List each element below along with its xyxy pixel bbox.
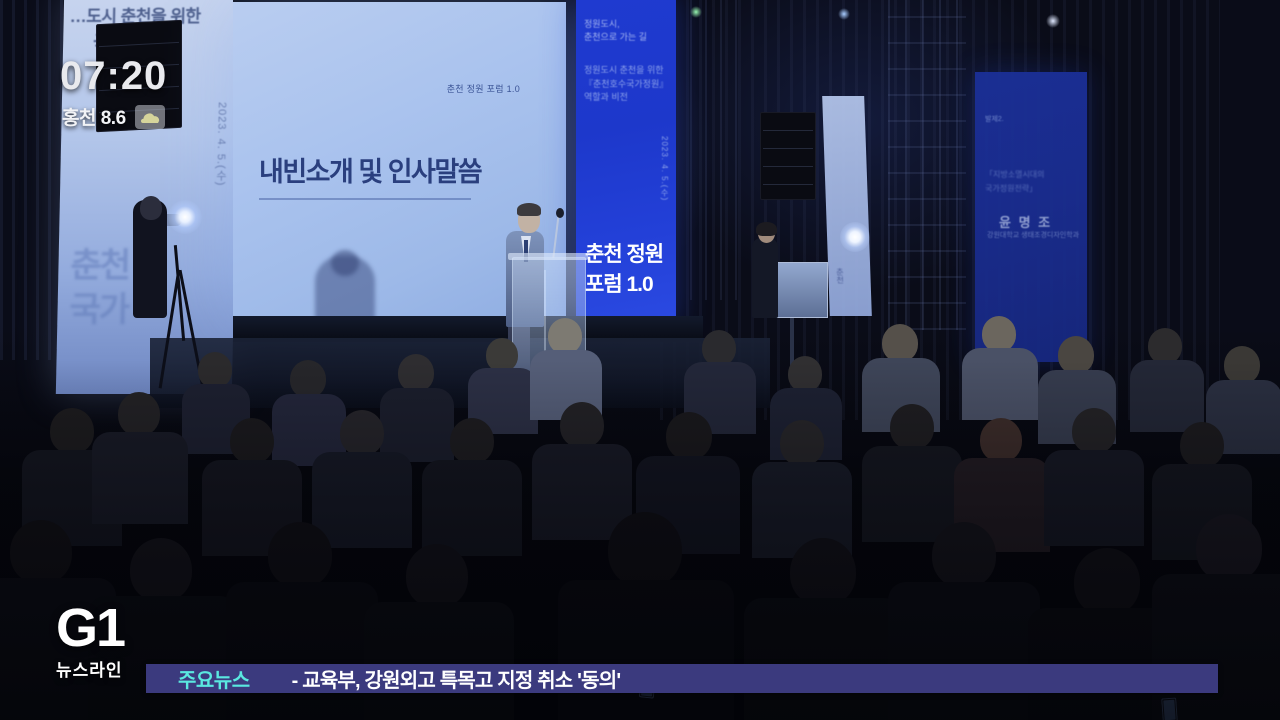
slide-title: 내빈소개 및 인사말씀 — [259, 150, 481, 189]
banner-center-date: 2023. 4. 5.(수) — [659, 136, 670, 201]
banner-right-speaker-name: 윤 명 조 — [999, 212, 1052, 231]
podium-top — [508, 253, 588, 260]
stage-flat-right: 춘천 — [822, 96, 872, 316]
banner-left-date: 2023. 4. 5.(수) — [212, 102, 230, 186]
stage-truss-right — [888, 0, 966, 330]
slide-corner-label: 춘천 정원 포럼 1.0 — [447, 82, 520, 95]
clock-time: 07:20 — [60, 56, 167, 96]
banner-center-big-line1: 춘천 정원 — [585, 238, 663, 268]
camera-flash-icon — [168, 200, 202, 234]
ticker-label: 주요뉴스 — [178, 664, 250, 693]
clock-weather-overlay: 07:20 홍천 8.6 — [60, 56, 167, 130]
stage-lamp-green-icon — [690, 6, 702, 18]
banner-center-small2: 정원도시 춘천을 위한 『춘천호수국가정원』 역할과 비전 — [584, 64, 672, 105]
banner-center-big-line2: 포럼 1.0 — [585, 268, 653, 298]
ticker-headline: - 교육부, 강원외고 특목고 지정 취소 '동의' — [292, 664, 621, 693]
stage-flat-text: 춘천 — [834, 268, 846, 284]
stage-banner-center: 정원도시, 춘천으로 가는 길 정원도시 춘천을 위한 『춘천호수국가정원』 역… — [576, 0, 676, 326]
cloud-icon — [135, 105, 165, 129]
speaker-hair — [517, 203, 541, 216]
stage-spotlight — [840, 222, 870, 252]
broadcast-screen: …도시 춘천을 위한 국가정원』 2023. 4. 5.(수) 춘천 국가 춘천… — [0, 0, 1280, 720]
banner-center-small1: 정원도시, 춘천으로 가는 길 — [584, 18, 647, 44]
banner-right-small2: 「지방소멸시대의 국가정원전략」 — [985, 168, 1077, 195]
photographer-head — [140, 196, 162, 220]
banner-right-small1: 발제2. — [985, 114, 1004, 124]
stage-lamp-blue-icon — [838, 8, 850, 20]
projected-shadow-head — [331, 250, 359, 276]
stage-lamp-white-icon — [1046, 14, 1060, 28]
line-array-speaker-right — [760, 112, 816, 200]
banner-left-big1: 춘천 — [70, 238, 130, 287]
news-ticker: 주요뉴스 - 교육부, 강원외고 특목고 지정 취소 '동의' — [146, 664, 1218, 693]
slide-underline — [259, 198, 471, 200]
microphone-icon — [556, 208, 564, 218]
channel-logo: G1 뉴스라인 — [56, 604, 124, 681]
program-name: 뉴스라인 — [56, 656, 124, 681]
stage-truss-center — [690, 0, 750, 300]
channel-logo-mark: G1 — [56, 604, 124, 654]
weather-location-temperature: 홍천 8.6 — [62, 103, 126, 130]
video-scene: …도시 춘천을 위한 국가정원』 2023. 4. 5.(수) 춘천 국가 춘천… — [0, 0, 1280, 720]
banner-right-speaker-org: 강원대학교 생태조경디자인학과 — [987, 230, 1079, 240]
staff-hair — [756, 222, 777, 236]
weather-row: 홍천 8.6 — [62, 103, 167, 130]
